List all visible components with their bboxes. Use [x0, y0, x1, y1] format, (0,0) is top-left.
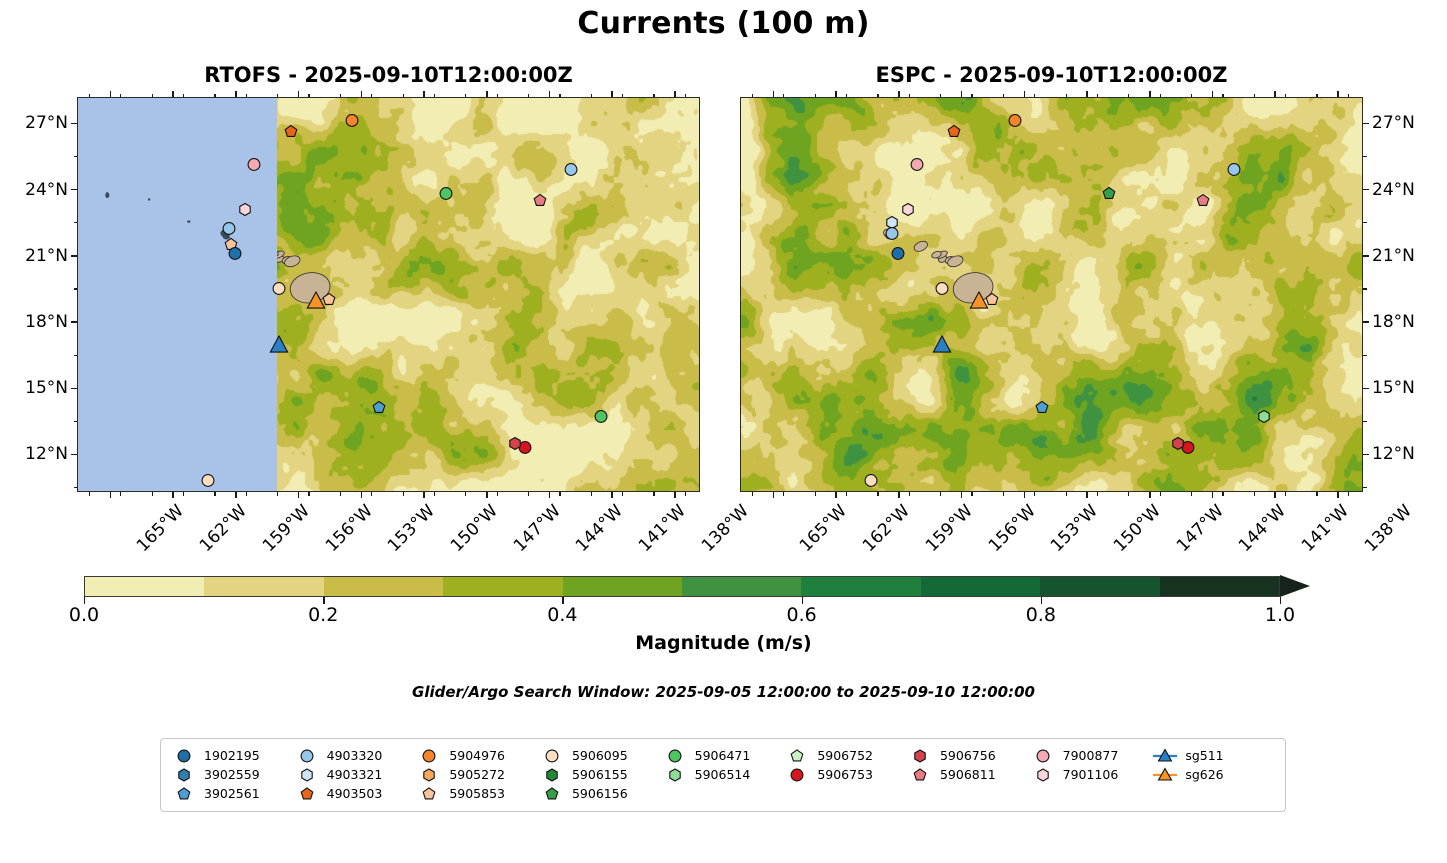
legend-marker-5906095-icon — [539, 748, 565, 764]
map-marker-4903503[interactable] — [947, 124, 961, 143]
lon-tick-label-left-2: 159°W — [259, 501, 314, 556]
colorbar-band-5 — [682, 577, 801, 596]
map-marker-5906756[interactable] — [1171, 435, 1185, 454]
map-marker-7900877[interactable] — [247, 157, 261, 176]
lon-tick-label-left-9: 138°W — [698, 501, 753, 556]
legend-marker-4903320-icon — [294, 748, 320, 764]
lon-major-tick-top-right-9 — [1337, 91, 1339, 97]
legend-label-4903321: 4903321 — [327, 767, 383, 782]
lon-tick-label-right-4: 153°W — [1047, 501, 1102, 556]
lat-minor-tick — [1363, 222, 1367, 223]
legend-marker-sg511-icon — [1152, 748, 1178, 764]
lat-major-tick-right-5 — [1363, 454, 1369, 456]
lon-minor-tick-right — [1128, 492, 1129, 496]
lon-major-tick-right-1 — [835, 492, 837, 498]
lon-minor-tick-left — [371, 492, 372, 496]
lon-minor-tick-top-left — [528, 94, 529, 98]
lat-major-tick-right-3 — [1363, 321, 1369, 323]
legend-item-3902561[interactable]: 3902561 — [171, 784, 294, 803]
lon-tick-label-right-7: 144°W — [1235, 501, 1290, 556]
lat-tick-label-right-4: 15°N — [1372, 378, 1442, 398]
lon-minor-tick-top-right — [940, 94, 941, 98]
lon-tick-label-left-5: 150°W — [447, 501, 502, 556]
lat-minor-tick — [74, 487, 78, 488]
lon-minor-tick-top-left — [559, 94, 560, 98]
colorbar-tick-5 — [1280, 597, 1281, 604]
legend-item-5906471[interactable]: 5906471 — [662, 746, 785, 765]
legend-marker-5906811-icon — [907, 767, 933, 783]
legend-label-5905272: 5905272 — [449, 767, 505, 782]
lon-minor-tick-top-right — [1254, 94, 1255, 98]
legend-item-5906753[interactable]: 5906753 — [784, 765, 907, 784]
lon-tick-label-right-6: 147°W — [1173, 501, 1228, 556]
lon-minor-tick-left — [434, 492, 435, 496]
lon-major-tick-top-right-6 — [1149, 91, 1151, 97]
map-marker-5906095b[interactable] — [201, 473, 215, 492]
lon-minor-tick-right — [1285, 492, 1286, 496]
legend-item-7900877[interactable]: 7900877 — [1030, 746, 1153, 765]
legend-marker-4903321-icon — [294, 767, 320, 783]
lon-minor-tick-top-right — [1066, 94, 1067, 98]
colorbar-tick-label-2: 0.4 — [547, 604, 577, 626]
lon-minor-tick-left — [120, 492, 121, 496]
legend-item-4903503[interactable]: 4903503 — [294, 784, 417, 803]
lat-minor-tick — [74, 222, 78, 223]
lat-tick-label-left-3: 18°N — [0, 312, 68, 332]
map-marker-7901106[interactable] — [901, 201, 915, 220]
colorbar-tick-label-5: 1.0 — [1265, 604, 1295, 626]
legend-label-5906514: 5906514 — [695, 767, 751, 782]
legend-label-sg511: sg511 — [1185, 748, 1223, 763]
legend-item-3902559[interactable]: 3902559 — [171, 765, 294, 784]
lon-minor-tick-left — [497, 492, 498, 496]
lon-major-tick-left-9 — [674, 492, 676, 498]
lon-minor-tick-right — [1160, 492, 1161, 496]
lon-minor-tick-top-left — [622, 94, 623, 98]
lat-tick-label-right-2: 21°N — [1372, 246, 1442, 266]
lon-minor-tick-left — [653, 492, 654, 496]
map-marker-5906095b[interactable] — [864, 473, 878, 492]
legend-item-5904976[interactable]: 5904976 — [416, 746, 539, 765]
lon-minor-tick-top-left — [465, 94, 466, 98]
lon-minor-tick-left — [246, 492, 247, 496]
colorbar-tick-label-4: 0.8 — [1026, 604, 1056, 626]
legend-item-empty — [1152, 784, 1275, 803]
lon-minor-tick-left — [559, 492, 560, 496]
legend-label-7900877: 7900877 — [1063, 748, 1119, 763]
lon-major-tick-top-left-5 — [423, 91, 425, 97]
lon-major-tick-left-6 — [486, 492, 488, 498]
legend-marker-3902559-icon — [171, 767, 197, 783]
lat-major-tick-left-0 — [71, 123, 77, 125]
map-marker-4903503[interactable] — [284, 124, 298, 143]
lon-major-tick-left-5 — [423, 492, 425, 498]
legend-label-5904976: 5904976 — [449, 748, 505, 763]
legend-marker-5905853-icon — [416, 786, 442, 802]
map-marker-5904976[interactable] — [1008, 113, 1022, 132]
lat-major-tick-left-3 — [71, 321, 77, 323]
lat-minor-tick — [74, 421, 78, 422]
lon-major-tick-top-right-4 — [1024, 91, 1026, 97]
lon-minor-tick-top-right — [1034, 94, 1035, 98]
lon-minor-tick-top-left — [277, 94, 278, 98]
lon-minor-tick-top-left — [89, 94, 90, 98]
legend-item-5906155[interactable]: 5906155 — [539, 765, 662, 784]
lon-major-tick-right-6 — [1149, 492, 1151, 498]
lon-minor-tick-top-right — [877, 94, 878, 98]
legend-item-5906095[interactable]: 5906095 — [539, 746, 662, 765]
colorbar-band-7 — [921, 577, 1040, 596]
lon-tick-label-right-9: 138°W — [1361, 501, 1416, 556]
lat-tick-label-left-5: 12°N — [0, 444, 68, 464]
map-marker-5906156[interactable] — [1102, 186, 1116, 205]
colorbar-band-9 — [1160, 577, 1279, 596]
figure-canvas: Currents (100 m) RTOFS - 2025-09-10T12:0… — [0, 0, 1447, 863]
lon-minor-tick-top-left — [371, 94, 372, 98]
lon-minor-tick-right — [1034, 492, 1035, 496]
lat-minor-tick — [1363, 487, 1367, 488]
map-marker-sg511[interactable] — [932, 336, 951, 359]
lon-minor-tick-right — [815, 492, 816, 496]
lon-minor-tick-top-right — [1097, 94, 1098, 98]
colorbar-band-2 — [324, 577, 443, 596]
lon-major-tick-top-right-1 — [835, 91, 837, 97]
lon-minor-tick-right — [1097, 492, 1098, 496]
lon-minor-tick-right — [1222, 492, 1223, 496]
lon-minor-tick-right — [1003, 492, 1004, 496]
lon-minor-tick-right — [1191, 492, 1192, 496]
legend-item-empty — [907, 784, 1030, 803]
lon-minor-tick-left — [152, 492, 153, 496]
map-panel-espc[interactable] — [740, 97, 1363, 492]
lon-minor-tick-left — [528, 492, 529, 496]
legend-item-7901106[interactable]: 7901106 — [1030, 765, 1153, 784]
legend-box[interactable]: 1902195390255939025614903320490332149035… — [160, 738, 1286, 812]
lon-minor-tick-top-right — [1191, 94, 1192, 98]
colorbar-band-4 — [563, 577, 682, 596]
lon-tick-label-left-8: 141°W — [635, 501, 690, 556]
lon-minor-tick-left — [214, 492, 215, 496]
lon-major-tick-top-left-7 — [549, 91, 551, 97]
lon-major-tick-top-right-8 — [1274, 91, 1276, 97]
legend-label-5906156: 5906156 — [572, 786, 628, 801]
lon-major-tick-left-2 — [235, 492, 237, 498]
lon-minor-tick-right — [1254, 492, 1255, 496]
lon-minor-tick-left — [622, 492, 623, 496]
lon-major-tick-top-left-8 — [611, 91, 613, 97]
legend-item-empty — [662, 784, 785, 803]
colorbar-tick-label-0: 0.0 — [69, 604, 99, 626]
lon-major-tick-left-4 — [361, 492, 363, 498]
legend-label-1902195: 1902195 — [204, 748, 260, 763]
colorbar-band-1 — [204, 577, 323, 596]
lon-minor-tick-right — [1316, 492, 1317, 496]
lon-major-tick-right-7 — [1212, 492, 1214, 498]
lon-minor-tick-left — [403, 492, 404, 496]
lon-tick-label-left-6: 147°W — [510, 501, 565, 556]
map-marker-5906756[interactable] — [508, 435, 522, 454]
legend-marker-5905272-icon — [416, 767, 442, 783]
colorbar-tick-0 — [84, 597, 85, 604]
colorbar-tick-3 — [802, 597, 803, 604]
lon-minor-tick-right — [940, 492, 941, 496]
lon-major-tick-top-right-7 — [1212, 91, 1214, 97]
lon-tick-label-right-1: 162°W — [859, 501, 914, 556]
map-marker-7900877[interactable] — [910, 157, 924, 176]
lat-tick-label-right-3: 18°N — [1372, 312, 1442, 332]
legend-item-5905853[interactable]: 5905853 — [416, 784, 539, 803]
lon-minor-tick-left — [685, 492, 686, 496]
lon-minor-tick-top-right — [1160, 94, 1161, 98]
lon-minor-tick-top-left — [246, 94, 247, 98]
legend-item-5905272[interactable]: 5905272 — [416, 765, 539, 784]
legend-marker-sg626-icon — [1152, 767, 1178, 783]
lat-major-tick-right-0 — [1363, 123, 1369, 125]
lon-minor-tick-top-left — [183, 94, 184, 98]
legend-label-5906752: 5906752 — [817, 748, 873, 763]
legend-item-sg511[interactable]: sg511 — [1152, 746, 1275, 765]
lat-major-tick-right-4 — [1363, 388, 1369, 390]
lat-tick-label-left-4: 15°N — [0, 378, 68, 398]
legend-label-3902559: 3902559 — [204, 767, 260, 782]
lon-minor-tick-left — [340, 492, 341, 496]
lon-minor-tick-top-left — [497, 94, 498, 98]
lon-major-tick-top-left-2 — [235, 91, 237, 97]
legend-marker-5906753-icon — [784, 767, 810, 783]
map-marker-5905853b[interactable] — [985, 292, 999, 311]
panel-title-rtofs: RTOFS - 2025-09-10T12:00:00Z — [77, 62, 700, 88]
lat-tick-label-right-0: 27°N — [1372, 113, 1442, 133]
lat-tick-label-right-1: 24°N — [1372, 180, 1442, 200]
lon-minor-tick-right — [783, 492, 784, 496]
map-marker-1902195[interactable] — [891, 245, 905, 264]
colorbar-band-0 — [85, 577, 204, 596]
legend-item-1902195[interactable]: 1902195 — [171, 746, 294, 765]
lat-major-tick-right-2 — [1363, 255, 1369, 257]
panel-title-espc: ESPC - 2025-09-10T12:00:00Z — [740, 62, 1363, 88]
lon-tick-label-right-2: 159°W — [922, 501, 977, 556]
lon-minor-tick-top-right — [1128, 94, 1129, 98]
colorbar-title: Magnitude (m/s) — [0, 632, 1447, 654]
lon-major-tick-top-left-3 — [298, 91, 300, 97]
map-marker-5906811[interactable] — [1196, 192, 1210, 211]
map-marker-5906471[interactable] — [439, 186, 453, 205]
lon-tick-label-left-1: 162°W — [196, 501, 251, 556]
colorbar-gradient — [84, 576, 1280, 597]
lon-minor-tick-top-right — [752, 94, 753, 98]
lat-minor-tick — [1363, 355, 1367, 356]
legend-item-4903320[interactable]: 4903320 — [294, 746, 417, 765]
lon-major-tick-right-4 — [1024, 492, 1026, 498]
lon-major-tick-right-0 — [773, 492, 775, 498]
legend-marker-5904976-icon — [416, 748, 442, 764]
map-marker-3902561[interactable] — [372, 400, 386, 419]
map-panel-rtofs[interactable] — [77, 97, 700, 492]
lon-minor-tick-top-left — [591, 94, 592, 98]
lon-major-tick-top-right-3 — [961, 91, 963, 97]
lon-tick-label-right-0: 165°W — [796, 501, 851, 556]
lon-minor-tick-top-right — [1316, 94, 1317, 98]
lon-minor-tick-top-left — [403, 94, 404, 98]
lon-minor-tick-left — [89, 492, 90, 496]
legend-label-5905853: 5905853 — [449, 786, 505, 801]
lon-minor-tick-left — [183, 492, 184, 496]
legend-marker-7900877-icon — [1030, 748, 1056, 764]
legend-marker-4903503-icon — [294, 786, 320, 802]
legend-marker-5906471-icon — [662, 748, 688, 764]
legend-label-5906155: 5906155 — [572, 767, 628, 782]
lon-major-tick-top-left-1 — [172, 91, 174, 97]
lat-minor-tick — [1363, 421, 1367, 422]
map-marker-3902561[interactable] — [1035, 400, 1049, 419]
lon-minor-tick-right — [909, 492, 910, 496]
colorbar-extend-arrow — [1280, 575, 1310, 597]
colorbar-tick-4 — [1041, 597, 1042, 604]
lon-major-tick-top-right-2 — [898, 91, 900, 97]
colorbar-tick-label-1: 0.2 — [308, 604, 338, 626]
lon-minor-tick-left — [591, 492, 592, 496]
lon-minor-tick-top-left — [434, 94, 435, 98]
lat-tick-label-left-0: 27°N — [0, 113, 68, 133]
legend-item-empty — [1030, 784, 1153, 803]
legend-item-4903321[interactable]: 4903321 — [294, 765, 417, 784]
legend-label-7901106: 7901106 — [1063, 767, 1119, 782]
legend-label-5906471: 5906471 — [695, 748, 751, 763]
lat-major-tick-left-2 — [71, 255, 77, 257]
lon-minor-tick-left — [465, 492, 466, 496]
lon-minor-tick-right — [752, 492, 753, 496]
legend-label-5906756: 5906756 — [940, 748, 996, 763]
lon-minor-tick-top-left — [308, 94, 309, 98]
lat-major-tick-left-4 — [71, 388, 77, 390]
lon-tick-label-left-7: 144°W — [572, 501, 627, 556]
map-marker-5906095[interactable] — [935, 281, 949, 300]
lon-minor-tick-left — [277, 492, 278, 496]
legend-item-5906752[interactable]: 5906752 — [784, 746, 907, 765]
lat-tick-label-left-2: 21°N — [0, 246, 68, 266]
lat-minor-tick — [74, 355, 78, 356]
legend-item-5906756[interactable]: 5906756 — [907, 746, 1030, 765]
legend-label-5906753: 5906753 — [817, 767, 873, 782]
lon-major-tick-left-0 — [110, 492, 112, 498]
legend-marker-5906514-icon — [662, 767, 688, 783]
map-marker-5905853b[interactable] — [322, 292, 336, 311]
colorbar-tick-label-3: 0.6 — [786, 604, 816, 626]
lon-major-tick-right-2 — [898, 492, 900, 498]
search-window-text: Glider/Argo Search Window: 2025-09-05 12… — [0, 683, 1447, 701]
colorbar-band-8 — [1040, 577, 1159, 596]
legend-label-5906095: 5906095 — [572, 748, 628, 763]
lon-tick-label-left-0: 165°W — [133, 501, 188, 556]
colorbar-tick-2 — [562, 597, 563, 604]
colorbar-band-6 — [801, 577, 920, 596]
map-marker-4903320[interactable] — [564, 161, 578, 180]
colorbar: 0.00.20.40.60.81.0 — [84, 576, 1310, 597]
lon-minor-tick-top-right — [1003, 94, 1004, 98]
lon-major-tick-top-left-9 — [674, 91, 676, 97]
map-marker-5904976[interactable] — [345, 113, 359, 132]
legend-marker-5906756-icon — [907, 748, 933, 764]
map-marker-5906514[interactable] — [1257, 409, 1271, 428]
legend-item-empty — [784, 784, 907, 803]
lon-tick-label-right-8: 141°W — [1298, 501, 1353, 556]
lon-major-tick-top-right-0 — [773, 91, 775, 97]
lon-tick-label-left-4: 153°W — [384, 501, 439, 556]
lon-minor-tick-top-right — [909, 94, 910, 98]
lon-major-tick-right-5 — [1086, 492, 1088, 498]
lon-minor-tick-right — [1066, 492, 1067, 496]
legend-marker-5906156-icon — [539, 786, 565, 802]
map-marker-7901106[interactable] — [238, 201, 252, 220]
lon-major-tick-top-left-6 — [486, 91, 488, 97]
lon-minor-tick-top-left — [214, 94, 215, 98]
lat-minor-tick — [74, 156, 78, 157]
lon-tick-label-right-5: 150°W — [1110, 501, 1165, 556]
legend-marker-5906155-icon — [539, 767, 565, 783]
legend-item-5906156[interactable]: 5906156 — [539, 784, 662, 803]
lon-tick-label-right-3: 156°W — [985, 501, 1040, 556]
map-marker-5906811[interactable] — [533, 192, 547, 211]
map-marker-4903320[interactable] — [1227, 161, 1241, 180]
lon-minor-tick-top-left — [340, 94, 341, 98]
legend-grid: 1902195390255939025614903320490332149035… — [171, 746, 1275, 803]
lon-major-tick-top-right-5 — [1086, 91, 1088, 97]
legend-item-5906514[interactable]: 5906514 — [662, 765, 785, 784]
lon-minor-tick-right — [846, 492, 847, 496]
lon-minor-tick-top-left — [120, 94, 121, 98]
lat-minor-tick — [74, 288, 78, 289]
lon-minor-tick-right — [971, 492, 972, 496]
lon-minor-tick-top-left — [685, 94, 686, 98]
lon-minor-tick-right — [1348, 492, 1349, 496]
lon-minor-tick-left — [308, 492, 309, 496]
lon-minor-tick-right — [877, 492, 878, 496]
lat-tick-label-right-5: 12°N — [1372, 444, 1442, 464]
lon-major-tick-right-9 — [1337, 492, 1339, 498]
map-marker-5906471b[interactable] — [594, 409, 608, 428]
lon-tick-label-left-3: 156°W — [322, 501, 377, 556]
legend-label-4903320: 4903320 — [327, 748, 383, 763]
legend-label-5906811: 5906811 — [940, 767, 996, 782]
lon-minor-tick-top-right — [783, 94, 784, 98]
map-marker-1902195[interactable] — [228, 245, 242, 264]
lon-major-tick-right-8 — [1274, 492, 1276, 498]
lon-major-tick-left-1 — [172, 492, 174, 498]
map-marker-sg511[interactable] — [269, 336, 288, 359]
legend-label-4903503: 4903503 — [327, 786, 383, 801]
legend-label-3902561: 3902561 — [204, 786, 260, 801]
masked-region-islands — [78, 98, 700, 492]
lat-major-tick-left-5 — [71, 454, 77, 456]
colorbar-tick-1 — [323, 597, 324, 604]
lon-minor-tick-top-right — [971, 94, 972, 98]
legend-marker-7901106-icon — [1030, 767, 1056, 783]
map-marker-4903320b[interactable] — [885, 225, 899, 244]
legend-item-5906811[interactable]: 5906811 — [907, 765, 1030, 784]
lon-minor-tick-top-left — [653, 94, 654, 98]
lat-major-tick-left-1 — [71, 189, 77, 191]
legend-marker-5906752-icon — [784, 748, 810, 764]
legend-item-sg626[interactable]: sg626 — [1152, 765, 1275, 784]
lon-minor-tick-top-right — [1285, 94, 1286, 98]
lon-minor-tick-top-right — [1222, 94, 1223, 98]
legend-label-sg626: sg626 — [1185, 767, 1223, 782]
lon-major-tick-left-3 — [298, 492, 300, 498]
lon-major-tick-top-left-0 — [110, 91, 112, 97]
lat-minor-tick — [1363, 288, 1367, 289]
lon-minor-tick-top-right — [815, 94, 816, 98]
map-marker-5906095[interactable] — [272, 281, 286, 300]
